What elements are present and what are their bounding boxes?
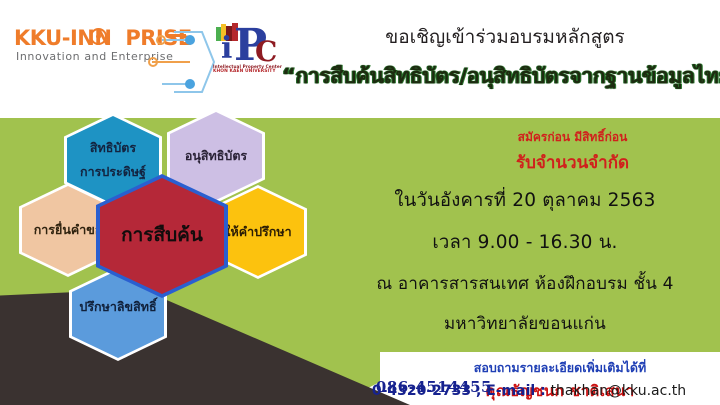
contact-prompt: สอบถามรายละเอียดเพิ่มเติมได้ที่ <box>400 358 720 378</box>
event-details: ในวันอังคารที่ 20 ตุลาคม 2563 เวลา 9.00 … <box>330 186 720 350</box>
promo-line1: สมัครก่อน มีสิทธิ์ก่อน <box>430 128 715 147</box>
hexagon-center-label: การสืบค้น <box>100 225 224 247</box>
invite-heading: ขอเชิญเข้าร่วมอบรมหลักสูตร <box>290 22 720 52</box>
event-organization: มหาวิทยาลัยขอนแก่น <box>330 310 720 337</box>
course-title: “การสืบค้นสิทธิบัตร/อนุสิทธิบัตรจากฐานข้… <box>282 60 720 93</box>
hexagon-label: การยื่นคำขอ <box>30 223 107 237</box>
circuit-hexagon-icon <box>144 28 216 96</box>
poster-canvas: KKU-INNoPRISE Innovation and Enterprise <box>0 0 720 405</box>
kku-innoprise-logo: KKU-INNoPRISE Innovation and Enterprise <box>14 22 194 78</box>
promo-line2: รับจำนวนจำกัด <box>430 149 715 176</box>
event-venue: ณ อาคารสารสนเทศ ห้องฝึกอบรม ชั้น 4 <box>330 270 720 297</box>
hexagon-label-line1: สิทธิบัตร <box>80 141 146 155</box>
ipc-letter-c: C <box>255 38 277 66</box>
contact-email[interactable]: thakhan@kku.ac.th <box>551 383 687 399</box>
hexagon-label: สิทธิบัตร การประดิษฐ์ <box>76 141 150 179</box>
hexagon-label-line2: การประดิษฐ์ <box>80 165 146 179</box>
hexagon-center-search: การสืบค้น <box>100 178 224 294</box>
hexagon-label: อนุสิทธิบัตร <box>181 149 251 163</box>
event-time: เวลา 9.00 - 16.30 น. <box>330 228 720 257</box>
contact-office-line: 0-4320-2733 , E-mail : thakhan@kku.ac.th <box>338 383 720 399</box>
ipc-letter-i: i <box>221 34 232 64</box>
hexagon-label: ปรึกษาลิขสิทธิ์ <box>75 300 160 314</box>
ipc-caption-line2: KHON KAEN UNIVERSITY <box>213 69 276 74</box>
promo-block: สมัครก่อน มีสิทธิ์ก่อน รับจำนวนจำกัด <box>430 128 715 176</box>
poster-header: KKU-INNoPRISE Innovation and Enterprise <box>0 0 720 118</box>
spiral-icon <box>90 28 107 45</box>
contact-office-phone: 0-4320-2733 , E-mail : <box>372 383 546 399</box>
event-date: ในวันอังคารที่ 20 ตุลาคม 2563 <box>330 186 720 215</box>
ipc-logo: i P C Intellectual Property Center KHON … <box>207 16 279 78</box>
hexagon-label: ให้คำปรึกษา <box>220 225 295 239</box>
